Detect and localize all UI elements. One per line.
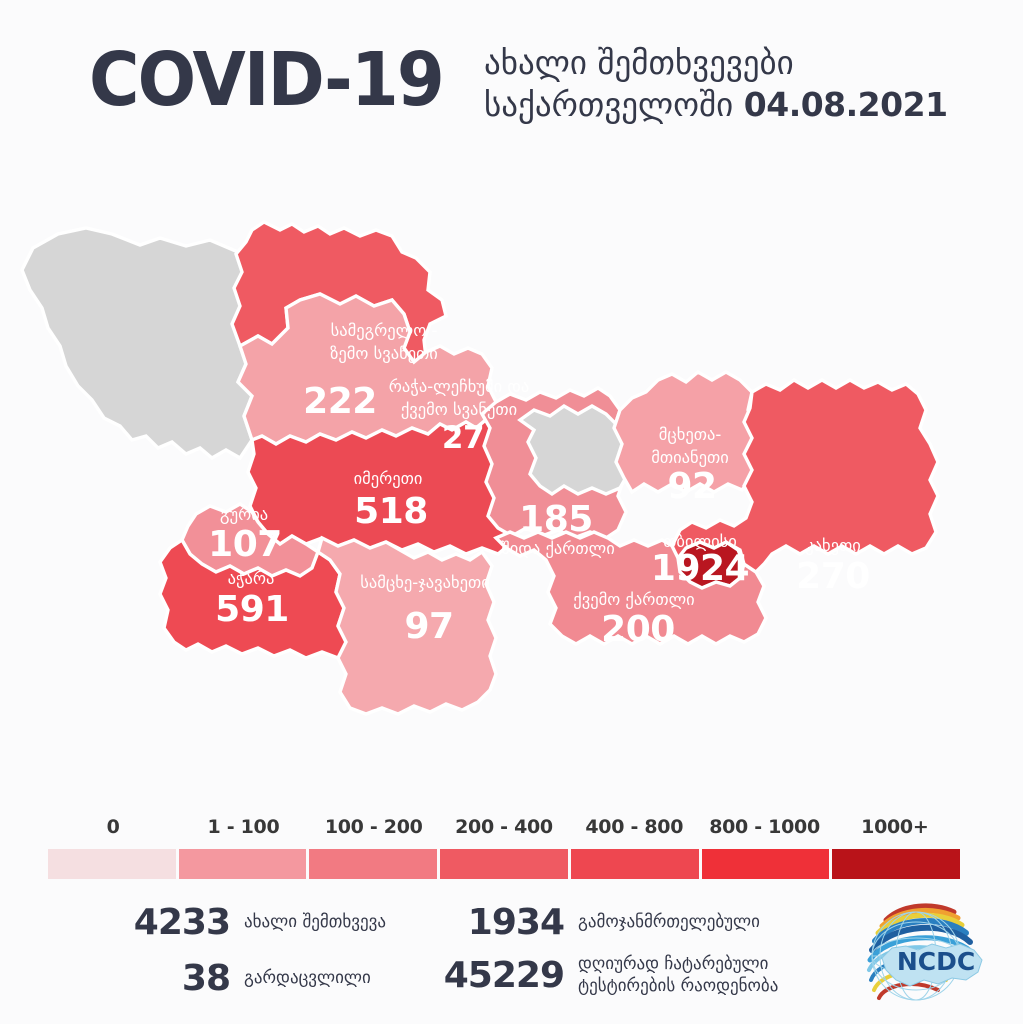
- stat-recovered-label: გამოჯანმრთელებული: [578, 911, 760, 933]
- header-country: საქართველოში: [484, 85, 733, 124]
- map-label-samtskhe-value: 97: [404, 606, 453, 647]
- map-label-guria-value: 107: [208, 524, 282, 565]
- map-label-mtskheta-name: მცხეთა-: [659, 425, 722, 444]
- ncdc-logo: NCDC: [858, 898, 990, 1016]
- legend-label-6: 1000+: [830, 816, 960, 846]
- page-title: COVID-19: [89, 38, 443, 117]
- map-label-kakheti-value: 270: [796, 556, 870, 597]
- map-label-samegrelo-value: 222: [303, 381, 377, 422]
- map-label-adjara-name: აჭარა: [228, 569, 275, 588]
- header: COVID-19 ახალი შემთხვევები საქართველოში …: [0, 38, 1023, 158]
- map-label-tbilisi-value: 1924: [651, 548, 749, 589]
- legend-label-3: 200 - 400: [439, 816, 569, 846]
- map-label-samtskhe-name: სამცხე-ჯავახეთი: [360, 573, 489, 592]
- stat-new-cases-label: ახალი შემთხვევა: [244, 911, 386, 933]
- georgia-choropleth-map: სამეგრელო - ზემო სვანეთი 222 რაჭა-ლეჩხუმ…: [0, 196, 1023, 726]
- legend-swatch-4: [571, 849, 702, 879]
- stat-new-cases: 4233 ახალი შემთხვევა: [88, 902, 386, 943]
- logo-text: NCDC: [897, 947, 975, 976]
- legend-label-1: 1 - 100: [178, 816, 308, 846]
- legend: 0 1 - 100 100 - 200 200 - 400 400 - 800 …: [48, 816, 960, 879]
- map-label-racha-name: რაჭა-ლეჩხუმი და: [389, 377, 530, 396]
- legend-labels: 0 1 - 100 100 - 200 200 - 400 400 - 800 …: [48, 816, 960, 846]
- stat-recovered-value: 1934: [432, 902, 564, 943]
- map-label-mtskheta-value: 92: [667, 466, 716, 507]
- stat-tests-label-line1: დღიურად ჩატარებული: [578, 953, 778, 975]
- stat-new-cases-value: 4233: [88, 902, 230, 943]
- legend-label-0: 0: [48, 816, 178, 846]
- stat-tests: 45229 დღიურად ჩატარებული ტესტირების რაოდ…: [432, 953, 778, 998]
- legend-swatch-3: [440, 849, 571, 879]
- map-label-imereti-value: 518: [354, 491, 428, 532]
- stat-deaths: 38 გარდაცვლილი: [88, 958, 371, 999]
- legend-color-bar: [48, 849, 960, 879]
- map-label-samegrelo-name: სამეგრელო -: [331, 321, 438, 340]
- report-date: 04.08.2021: [744, 85, 948, 124]
- legend-swatch-5: [702, 849, 833, 879]
- map-label-guria-name: გურია: [220, 505, 268, 524]
- map-label-samegrelo-name2: ზემო სვანეთი: [330, 344, 438, 363]
- map-label-kakheti-name: კახეთი: [805, 536, 861, 555]
- map-svg: სამეგრელო - ზემო სვანეთი 222 რაჭა-ლეჩხუმ…: [0, 196, 1023, 726]
- map-label-kvemo-name: ქვემო ქართლი: [573, 590, 694, 609]
- map-label-adjara-value: 591: [215, 589, 289, 630]
- legend-label-2: 100 - 200: [309, 816, 439, 846]
- ncdc-logo-svg: NCDC: [858, 898, 990, 1016]
- legend-swatch-6: [832, 849, 960, 879]
- map-label-racha-name2: ქვემო სვანეთი: [401, 400, 517, 419]
- infographic-page: COVID-19 ახალი შემთხვევები საქართველოში …: [0, 0, 1023, 1024]
- map-label-shida-value: 185: [519, 499, 593, 540]
- stat-tests-value: 45229: [432, 955, 564, 996]
- map-label-mtskheta-name2: მთიანეთი: [651, 448, 729, 467]
- legend-swatch-0: [48, 849, 179, 879]
- legend-label-5: 800 - 1000: [699, 816, 829, 846]
- stat-tests-label-line2: ტესტირების რაოდენობა: [578, 975, 778, 997]
- stat-recovered: 1934 გამოჯანმრთელებული: [432, 902, 760, 943]
- map-label-racha-value: 27: [442, 420, 484, 456]
- legend-swatch-1: [179, 849, 310, 879]
- stat-deaths-value: 38: [88, 958, 230, 999]
- header-subtitle-block: ახალი შემთხვევები საქართველოში 04.08.202…: [484, 38, 948, 126]
- map-label-imereti-name: იმერეთი: [354, 469, 423, 488]
- header-subtitle-line1: ახალი შემთხვევები: [484, 42, 948, 84]
- map-label-shida-name: შიდა ქართლი: [501, 539, 615, 558]
- map-label-kvemo-value: 200: [601, 609, 675, 650]
- header-subtitle-line2: საქართველოში 04.08.2021: [484, 84, 948, 126]
- legend-swatch-2: [309, 849, 440, 879]
- stat-deaths-label: გარდაცვლილი: [244, 967, 371, 989]
- legend-label-4: 400 - 800: [569, 816, 699, 846]
- map-region-south-ossetia[interactable]: [520, 406, 628, 494]
- stat-tests-label: დღიურად ჩატარებული ტესტირების რაოდენობა: [578, 953, 778, 998]
